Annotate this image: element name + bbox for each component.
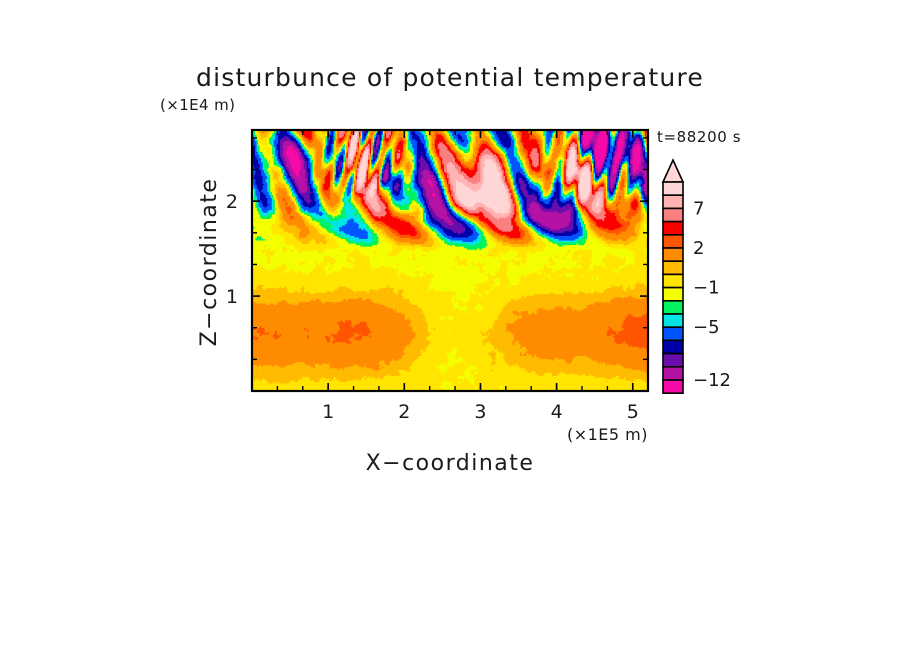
- colorbar-tick-label: −12: [693, 370, 731, 391]
- x-tick-label: 5: [627, 401, 639, 423]
- colorbar-tick-label: 2: [693, 238, 704, 259]
- colorbar-swatch[interactable]: [663, 261, 683, 274]
- contour-figure: disturbunce of potential temperature (×1…: [0, 0, 904, 654]
- contour-plot-field: [252, 130, 648, 391]
- colorbar-tick-label: −5: [693, 317, 720, 338]
- colorbar-swatch[interactable]: [663, 327, 683, 340]
- x-axis-unit-label: (×1E5 m): [567, 425, 648, 444]
- colorbar-swatch[interactable]: [663, 222, 683, 235]
- colorbar-swatch[interactable]: [663, 195, 683, 208]
- y-axis-label: Z−coordinate: [197, 178, 222, 347]
- time-annotation: t=88200 s: [657, 128, 741, 146]
- x-tick-label: 1: [322, 401, 334, 423]
- x-tick-label: 4: [551, 401, 563, 423]
- colorbar-swatch[interactable]: [663, 208, 683, 221]
- colorbar-swatch[interactable]: [663, 354, 683, 367]
- colorbar-swatch[interactable]: [663, 288, 683, 301]
- colorbar-tick-label: 7: [693, 198, 704, 219]
- colorbar-swatch[interactable]: [663, 340, 683, 353]
- y-tick-label: 1: [226, 286, 238, 308]
- colorbar-swatch[interactable]: [663, 301, 683, 314]
- x-axis-label: X−coordinate: [366, 451, 535, 476]
- colorbar-swatch[interactable]: [663, 182, 683, 195]
- x-tick-label: 3: [474, 401, 486, 423]
- colorbar-swatch[interactable]: [663, 367, 683, 380]
- y-tick-label: 2: [226, 191, 238, 213]
- colorbar-swatch[interactable]: [663, 248, 683, 261]
- y-axis-unit-label: (×1E4 m): [160, 96, 235, 114]
- colorbar-swatch[interactable]: [663, 314, 683, 327]
- colorbar-tick-label: −1: [693, 278, 720, 299]
- colorbar-swatch[interactable]: [663, 274, 683, 287]
- colorbar-swatch[interactable]: [663, 380, 683, 393]
- x-tick-label: 2: [398, 401, 410, 423]
- page-title: disturbunce of potential temperature: [196, 63, 704, 92]
- colorbar-swatch[interactable]: [663, 235, 683, 248]
